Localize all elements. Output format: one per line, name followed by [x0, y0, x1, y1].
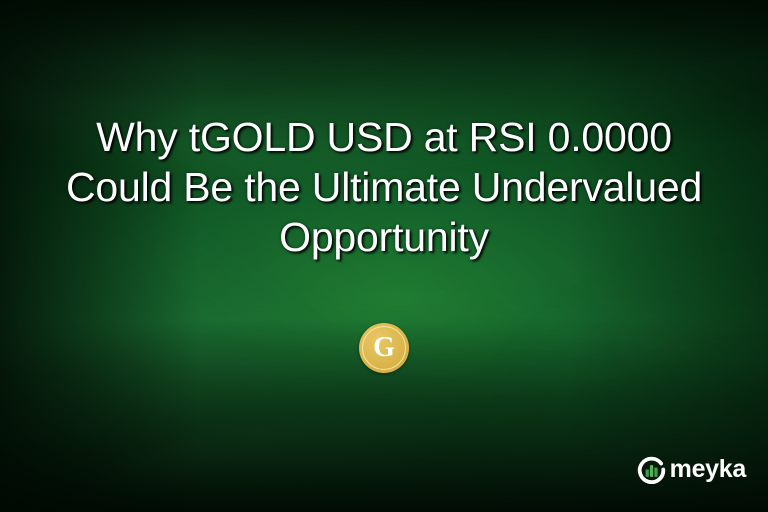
- gold-coin-icon: G: [359, 323, 409, 373]
- banner-headline: Why tGOLD USD at RSI 0.0000 Could Be the…: [54, 112, 714, 262]
- banner-content: Why tGOLD USD at RSI 0.0000 Could Be the…: [0, 0, 768, 512]
- meyka-wordmark: meyka: [670, 457, 746, 482]
- coin-symbol-letter: G: [373, 334, 395, 362]
- meyka-bar-chart-circle-icon: [637, 455, 666, 484]
- meyka-logo[interactable]: meyka: [637, 455, 746, 484]
- article-hero-banner: Why tGOLD USD at RSI 0.0000 Could Be the…: [0, 0, 768, 512]
